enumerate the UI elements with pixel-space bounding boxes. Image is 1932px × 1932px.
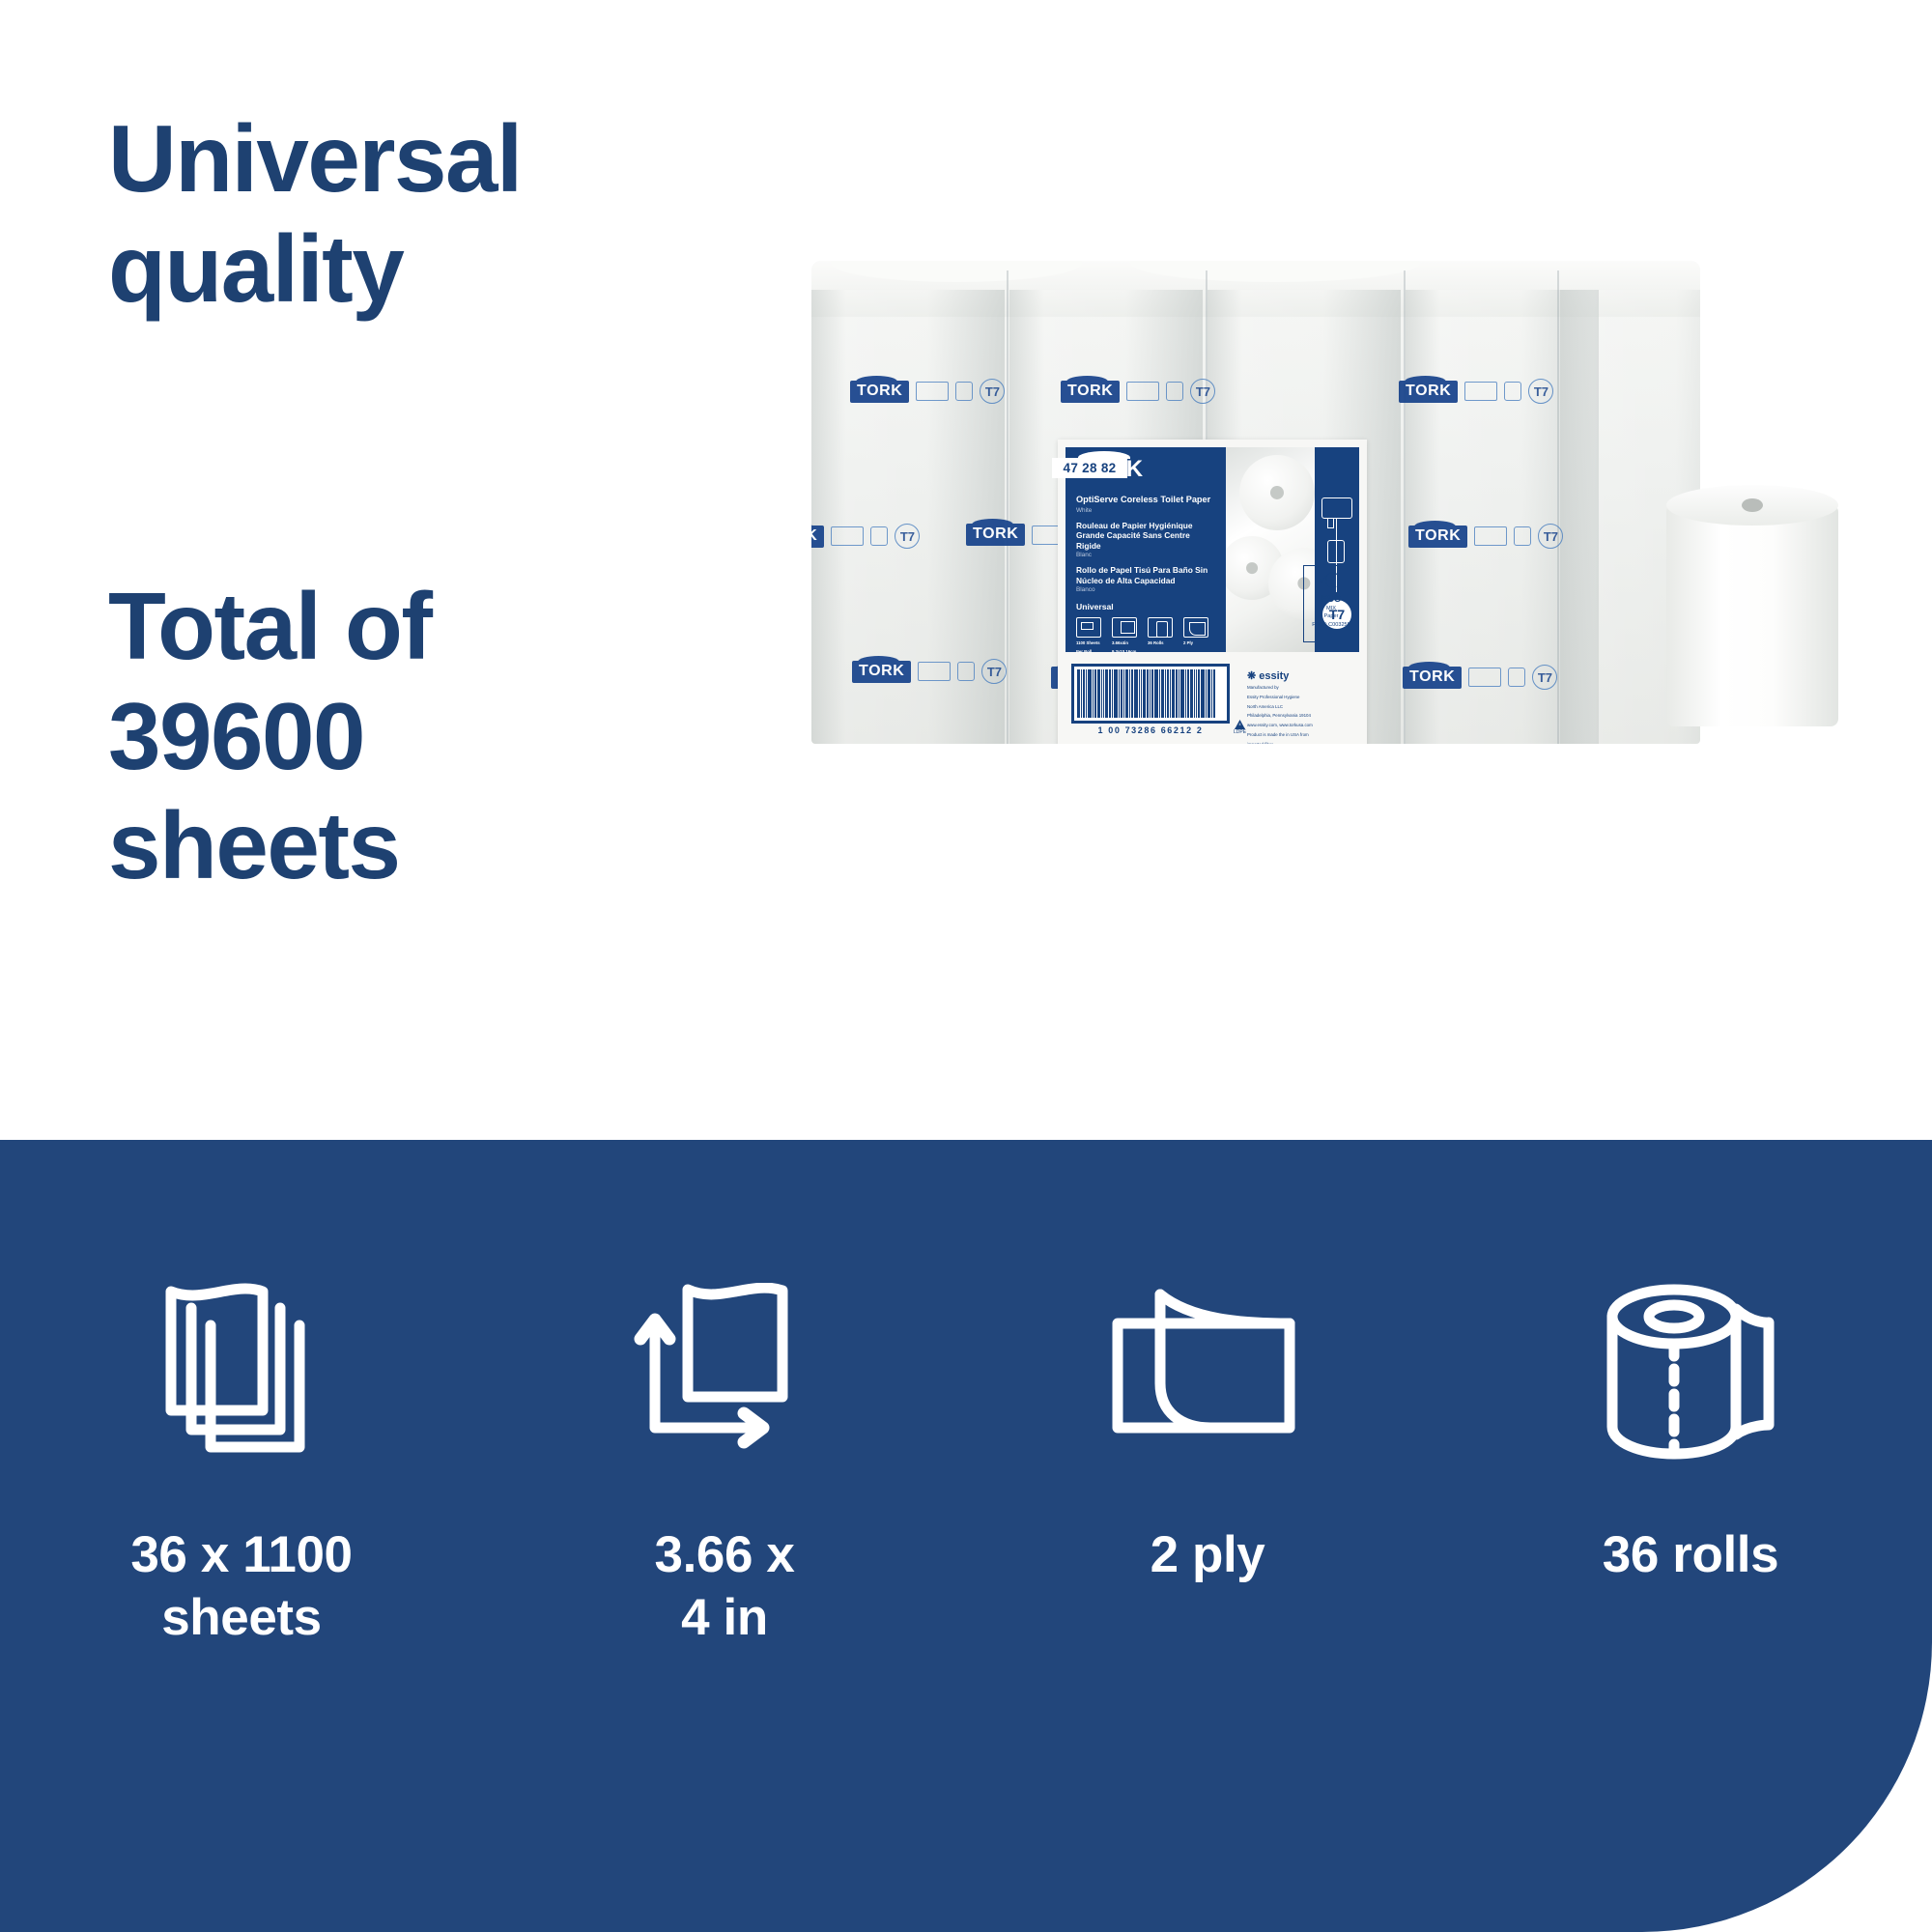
roll-icon xyxy=(1508,668,1525,687)
roll-icon xyxy=(1166,382,1183,401)
feature-label: 3.66 x4 in xyxy=(655,1524,795,1649)
headline-line-1: Universal xyxy=(108,104,726,214)
manufacturer-line: Philadelphia, Pennsylvania 19104 xyxy=(1247,713,1355,720)
feature-rolls: 36 rolls xyxy=(1449,1140,1932,1932)
dispenser-icon xyxy=(1468,668,1501,687)
subhead-line-1: Total of xyxy=(108,572,726,682)
sheet-dimensions-icon xyxy=(628,1275,821,1468)
roll-icon xyxy=(1514,526,1531,546)
fsc-line-2: Paper xyxy=(1304,612,1358,620)
product-infographic: Universal quality Total of 39600 sheets xyxy=(0,0,1932,1932)
headline-line-2: quality xyxy=(108,214,726,325)
feature-label: 36 x 1100sheets xyxy=(130,1524,352,1649)
spec-line-1: 36 Rolls xyxy=(1148,640,1177,646)
tork-logo: TORK xyxy=(850,381,909,403)
manufacturer-line: imported fiber xyxy=(1247,742,1355,744)
label-spec-item: 3.66x4in 9.3x10.16cm xyxy=(1112,617,1141,655)
roll-body xyxy=(1666,504,1838,726)
fsc-tree-icon: ✓ xyxy=(1321,572,1341,593)
t7-badge: T7 xyxy=(981,659,1007,684)
barcode-bars xyxy=(1077,669,1224,718)
tork-logo: TORK xyxy=(852,661,911,683)
fsc-code: FSC® C003255 xyxy=(1304,621,1358,629)
t7-badge: T7 xyxy=(895,524,920,549)
t7-badge: T7 xyxy=(980,379,1005,404)
subhead-block: Total of 39600 sheets xyxy=(108,572,726,901)
product-name-es: Rollo de Papel Tisú Para Baño Sin Núcleo… xyxy=(1076,565,1216,585)
quality-tier: Universal xyxy=(1076,602,1216,611)
dispenser-icon xyxy=(1321,497,1352,519)
tork-logo: TORK xyxy=(1408,526,1467,548)
wrap-print-mark: TORK T7 xyxy=(1061,379,1215,404)
manufacturer-line: North America LLC xyxy=(1247,704,1355,711)
roll-icon xyxy=(1327,540,1345,563)
barcode xyxy=(1071,664,1230,724)
feature-label: 36 rolls xyxy=(1603,1524,1778,1587)
tork-logo: TORK xyxy=(966,524,1025,546)
dispenser-icon xyxy=(1464,382,1497,401)
feature-dimensions: 3.66 x4 in xyxy=(483,1140,966,1932)
wrap-print-mark: TORK T7 xyxy=(1403,665,1557,690)
recycle-code: LDPE xyxy=(1234,729,1246,735)
label-product-photo xyxy=(1226,447,1315,652)
features-row: 36 x 1100sheets 3.66 x4 in xyxy=(0,1140,1932,1932)
t7-badge: T7 xyxy=(1528,379,1553,404)
manufacturer-line: Manufactured by xyxy=(1247,685,1355,692)
roll-icon xyxy=(870,526,888,546)
tork-logo: TORK xyxy=(1399,381,1458,403)
product-name-fr: Rouleau de Papier Hygiénique Grande Capa… xyxy=(1076,521,1216,552)
label-spec-row: 1100 Sheets Per Roll 3.66x4in 9.3x10.16c… xyxy=(1076,617,1216,655)
manufacturer-block: ❋ essity Manufactured by Essity Professi… xyxy=(1247,669,1355,744)
wrap-print-mark: TORK xyxy=(966,524,1065,546)
recycle-mark: LDPE xyxy=(1234,720,1246,735)
loose-roll-photo xyxy=(1666,485,1860,744)
fsc-line-1: MIX xyxy=(1304,605,1358,612)
product-color-es: Blanco xyxy=(1076,586,1216,593)
wrap-print-mark: TORK T7 xyxy=(852,659,1007,684)
spec-line-1: 3.66x4in xyxy=(1112,640,1141,646)
dispenser-icon xyxy=(916,382,949,401)
label-spec-item: 36 Rolls xyxy=(1148,617,1177,655)
ply-icon xyxy=(1183,617,1208,638)
roll-core-hole xyxy=(1742,498,1763,512)
rolls-icon xyxy=(1148,617,1173,638)
shrink-wrapped-pack: TORK T7 TORK T7 TORK T7 xyxy=(811,261,1700,744)
dispenser-icon xyxy=(1126,382,1159,401)
tork-logo: TORK xyxy=(1061,381,1120,403)
check-icon: ✓ xyxy=(1319,573,1329,585)
t7-badge: T7 xyxy=(1532,665,1557,690)
label-spec-item: 1100 Sheets Per Roll xyxy=(1076,617,1105,655)
spec-line-1: 2 Ply xyxy=(1183,640,1212,646)
dimension-icon xyxy=(1112,617,1137,638)
dispenser-icon xyxy=(918,662,951,681)
manufacturer-line: www.essity.com, www.torkusa.com xyxy=(1247,723,1355,729)
wrap-print-mark: TORK T7 xyxy=(850,379,1005,404)
wrap-print-mark: TORK T7 xyxy=(811,524,920,549)
toilet-roll-icon xyxy=(1589,1275,1792,1468)
recycle-triangle-icon xyxy=(1235,720,1245,729)
roll-icon xyxy=(1504,382,1521,401)
manufacturer-line: Product is made the in USA from xyxy=(1247,732,1355,739)
essity-name: essity xyxy=(1259,670,1289,682)
product-color-fr: Blanc xyxy=(1076,552,1216,558)
spec-line-1: 1100 Sheets xyxy=(1076,640,1105,646)
headline-block: Universal quality xyxy=(108,104,726,324)
tork-logo: TORK xyxy=(811,526,824,548)
essity-logo: ❋ essity xyxy=(1247,669,1355,682)
feature-ply: 2 ply xyxy=(966,1140,1449,1932)
sheets-icon xyxy=(1076,617,1101,638)
fsc-name: FSC xyxy=(1304,594,1358,605)
item-number: 47 28 82 xyxy=(1052,458,1127,478)
roll-icon xyxy=(955,382,973,401)
feature-label: 2 ply xyxy=(1151,1524,1265,1587)
manufacturer-line: Essity Professional Hygiene xyxy=(1247,695,1355,701)
t7-badge: T7 xyxy=(1190,379,1215,404)
dispenser-icon xyxy=(1474,526,1507,546)
features-panel: 36 x 1100sheets 3.66 x4 in xyxy=(0,1140,1932,1932)
fsc-certification-mark: ✓ FSC MIX Paper FSC® C003255 xyxy=(1303,565,1359,642)
product-name-en: OptiServe Coreless Toilet Paper xyxy=(1076,495,1216,506)
essity-mark-icon: ❋ xyxy=(1247,669,1256,682)
spec-line-2: Per Roll xyxy=(1076,649,1105,655)
subhead-line-2: sheets xyxy=(108,791,726,901)
tork-logo: TORK xyxy=(1403,667,1462,689)
product-color-en: White xyxy=(1076,507,1216,514)
roll-photo xyxy=(1239,455,1315,530)
dispenser-icon xyxy=(831,526,864,546)
wrap-print-mark: TORK T7 xyxy=(1408,524,1563,549)
product-photo: TORK T7 TORK T7 TORK T7 xyxy=(787,261,1860,782)
wrap-print-mark: TORK T7 xyxy=(1399,379,1553,404)
two-ply-sheet-icon xyxy=(1106,1275,1309,1468)
label-spec-item: 2 Ply xyxy=(1183,617,1212,655)
roll-icon xyxy=(957,662,975,681)
pack-label: TORK OptiServe Coreless Toilet Paper Whi… xyxy=(1058,440,1367,744)
sheet-stack-icon xyxy=(145,1275,338,1468)
subhead-number: 39600 xyxy=(108,682,726,792)
barcode-number: 1 00 73286 66212 2 xyxy=(1071,725,1230,735)
hero-section: Universal quality Total of 39600 sheets xyxy=(0,0,1932,1140)
t7-badge: T7 xyxy=(1538,524,1563,549)
spec-line-2: 9.3x10.16cm xyxy=(1112,649,1141,655)
feature-sheets: 36 x 1100sheets xyxy=(0,1140,483,1932)
